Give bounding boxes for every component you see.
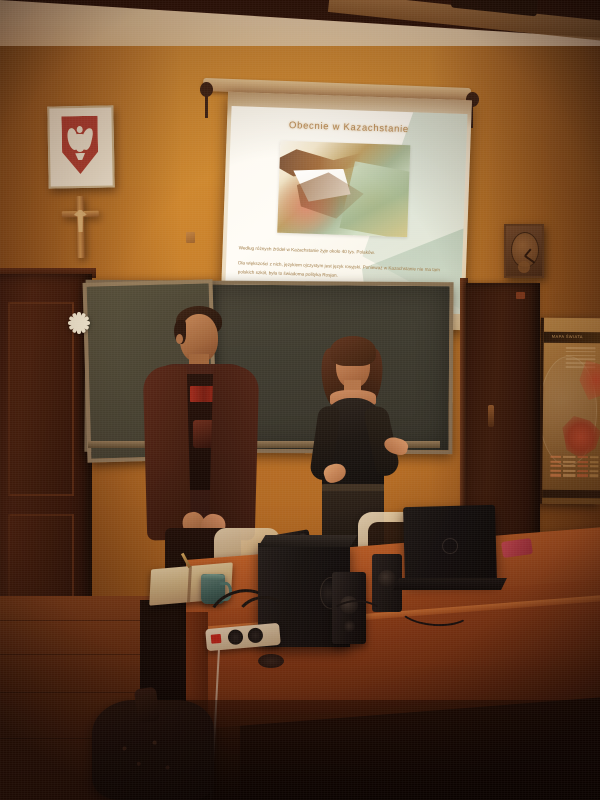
backpack-strap: [134, 687, 161, 724]
classroom-photo: MAPA ŚWIATA Obecnie w Kazachstanie: [0, 0, 600, 800]
book-spine: [187, 566, 192, 603]
backpack: [92, 700, 214, 800]
slide-paragraph-2: Dla większości z nich, językiem ojczysty…: [238, 258, 450, 283]
door-plate: [516, 292, 525, 299]
wall-clock: [504, 224, 544, 278]
backpack-pattern: [110, 734, 182, 782]
clock-pendulum: [518, 261, 530, 273]
emblem-shield: [61, 116, 98, 175]
door-panel: [8, 302, 74, 496]
male-ear: [176, 334, 183, 344]
speaker-cone: [378, 570, 396, 588]
plug-socket: [247, 627, 263, 643]
laptop-keyboard-base[interactable]: [393, 578, 507, 590]
map-bottom-bar: [542, 490, 600, 499]
map-title: MAPA ŚWIATA: [552, 333, 583, 338]
power-switch-icon[interactable]: [211, 634, 222, 644]
polish-coat-of-arms: [47, 105, 114, 188]
plug-socket: [227, 629, 243, 645]
slide-photo: [277, 141, 410, 237]
roller-end-cap: [200, 82, 213, 97]
subwoofer-top-face: [258, 535, 357, 547]
female-waistband: [322, 484, 384, 491]
classroom-door-right[interactable]: [466, 283, 540, 543]
laptop-logo-icon: [442, 538, 458, 554]
wall-outlet-icon: [186, 232, 195, 243]
round-disc-object: [258, 654, 284, 668]
white-eagle-icon: [68, 124, 93, 158]
crucifix-icon: [59, 196, 100, 259]
male-cardigan-left: [143, 365, 192, 540]
door-panel: [8, 514, 74, 598]
map-header-band: MAPA ŚWIATA: [544, 332, 600, 344]
mug-rim: [201, 574, 225, 580]
roll-down-world-map: MAPA ŚWIATA: [539, 318, 600, 505]
dell-laptop[interactable]: [403, 505, 497, 583]
under-desk-shadow: [186, 700, 600, 800]
paper-snowflake-decoration: [66, 310, 92, 336]
map-data-table: [550, 456, 598, 483]
audio-cable: [330, 600, 384, 632]
door-handle[interactable]: [488, 405, 494, 427]
female-hair-top: [330, 336, 376, 366]
